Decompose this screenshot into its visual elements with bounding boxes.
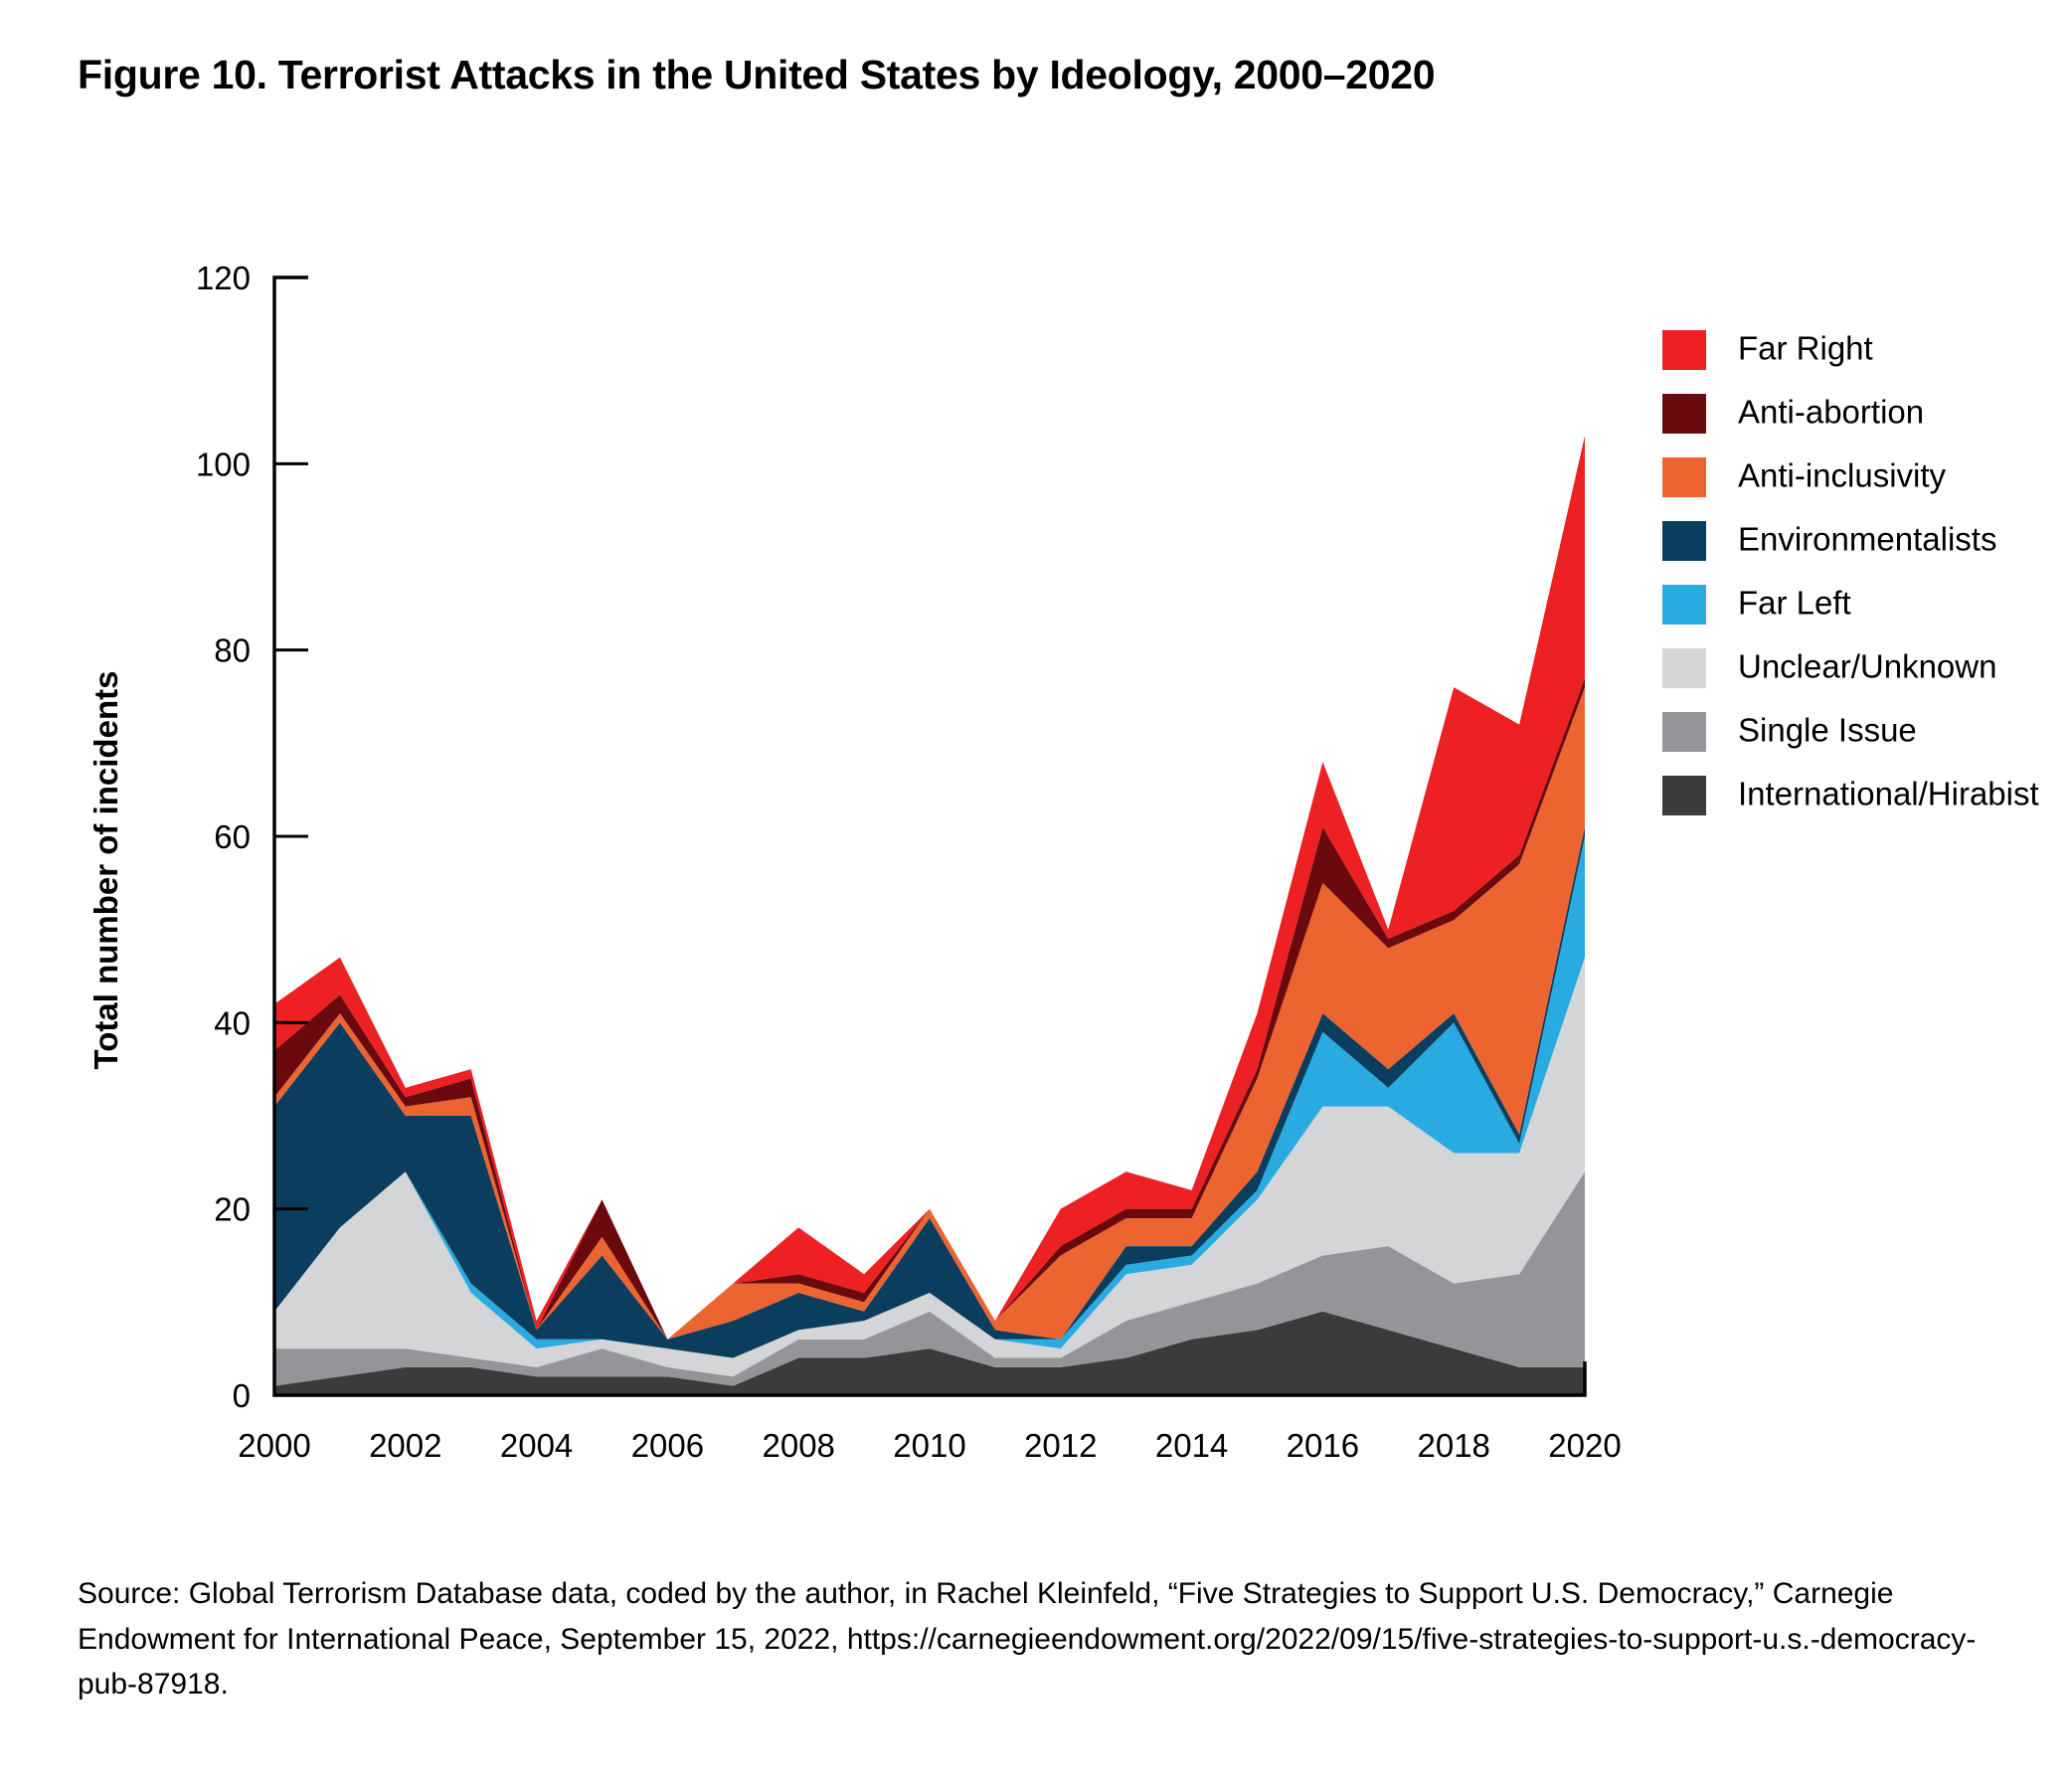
x-tick-label: 2010 (893, 1427, 965, 1464)
x-axis-ticks: 2000200220042006200820102012201420162018… (238, 1427, 1621, 1464)
y-tick-label: 20 (214, 1191, 251, 1228)
stacked-area-chart: 020406080100120 200020022004200620082010… (0, 149, 2072, 1522)
legend-label[interactable]: Unclear/Unknown (1738, 648, 1996, 685)
legend-label[interactable]: Environmentalists (1738, 521, 1996, 558)
legend-label[interactable]: Far Left (1738, 585, 1851, 622)
legend-swatch[interactable] (1662, 712, 1706, 752)
x-tick-label: 2002 (369, 1427, 441, 1464)
legend-swatch[interactable] (1662, 457, 1706, 497)
legend-label[interactable]: Anti-inclusivity (1738, 457, 1947, 494)
x-tick-label: 2008 (762, 1427, 834, 1464)
legend-swatch[interactable] (1662, 585, 1706, 625)
x-tick-label: 2020 (1548, 1427, 1621, 1464)
x-tick-label: 2004 (500, 1427, 573, 1464)
y-tick-label: 120 (196, 260, 251, 296)
y-axis-label: Total number of incidents (87, 671, 124, 1070)
chart-legend: Far RightAnti-abortionAnti-inclusivityEn… (1662, 330, 2039, 815)
y-tick-label: 40 (214, 1004, 251, 1041)
source-note: Source: Global Terrorism Database data, … (78, 1571, 2006, 1707)
legend-swatch[interactable] (1662, 330, 1706, 370)
x-tick-label: 2018 (1417, 1427, 1489, 1464)
x-tick-label: 2014 (1155, 1427, 1228, 1464)
y-tick-label: 0 (233, 1377, 251, 1414)
chart-container: 020406080100120 200020022004200620082010… (0, 149, 2072, 1522)
legend-swatch[interactable] (1662, 648, 1706, 688)
legend-label[interactable]: International/Hirabist (1738, 776, 2039, 812)
legend-swatch[interactable] (1662, 394, 1706, 434)
legend-label[interactable]: Far Right (1738, 330, 1873, 367)
x-tick-label: 2000 (238, 1427, 310, 1464)
legend-swatch[interactable] (1662, 776, 1706, 815)
legend-label[interactable]: Anti-abortion (1738, 394, 1924, 431)
legend-swatch[interactable] (1662, 521, 1706, 561)
y-tick-label: 60 (214, 818, 251, 855)
chart-areas (274, 436, 1585, 1395)
y-tick-label: 80 (214, 632, 251, 669)
x-tick-label: 2006 (631, 1427, 704, 1464)
y-tick-label: 100 (196, 446, 251, 482)
x-tick-label: 2012 (1024, 1427, 1097, 1464)
page-title: Figure 10. Terrorist Attacks in the Unit… (78, 52, 1435, 98)
legend-label[interactable]: Single Issue (1738, 712, 1917, 749)
x-tick-label: 2016 (1287, 1427, 1359, 1464)
